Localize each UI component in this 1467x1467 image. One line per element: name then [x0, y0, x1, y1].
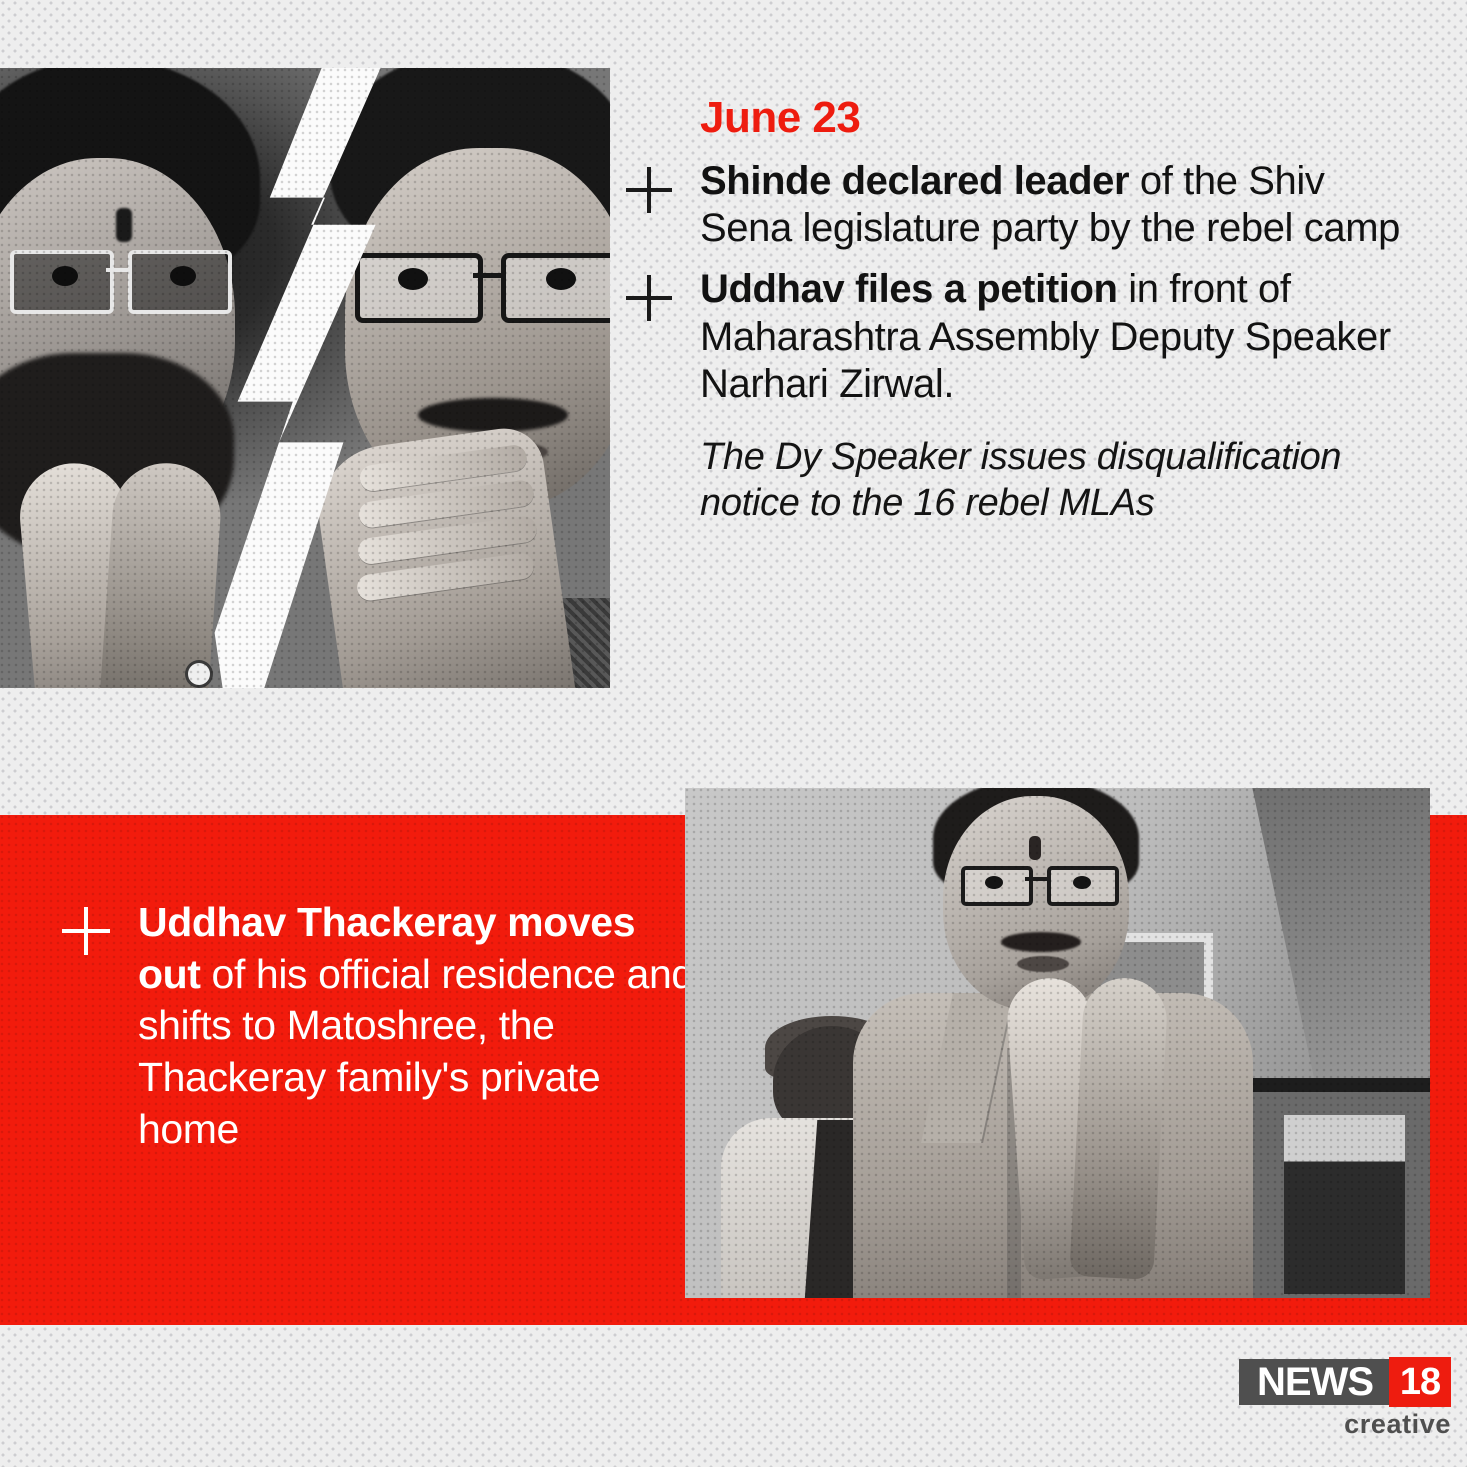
timeline-bullet-1-bold: Shinde declared leader: [700, 159, 1129, 203]
logo-news-word: NEWS: [1239, 1359, 1391, 1405]
plus-icon: [626, 275, 672, 321]
right-person-eye-right: [546, 268, 576, 290]
main-person-eye-left: [985, 876, 1003, 889]
main-person-moustache: [1001, 932, 1081, 952]
wall-frame-right: [1230, 1078, 1430, 1298]
infographic-canvas: June 23 Shinde declared leader of the Sh…: [0, 0, 1467, 1467]
left-person-eye-left: [52, 266, 78, 286]
plus-icon: [62, 907, 110, 955]
date-heading: June 23: [700, 96, 1410, 140]
logo-wordmark-row: NEWS 18: [1239, 1357, 1453, 1407]
red-panel-text: Uddhav Thackeray moves out of his offici…: [62, 897, 698, 1155]
right-person-eye-left: [398, 268, 428, 290]
bottom-photo: [685, 788, 1430, 1298]
timeline-bullet-2: Uddhav files a petition in front of Maha…: [620, 266, 1410, 408]
timeline-bullet-2-bold: Uddhav files a petition: [700, 267, 1118, 311]
left-person-glasses: [10, 250, 245, 308]
red-panel-rest: of his official residence and shifts to …: [138, 951, 694, 1152]
right-person-hand: [310, 423, 580, 688]
plus-icon: [626, 167, 672, 213]
left-person-folded-hands: [28, 463, 243, 688]
timeline-bullet-1: Shinde declared leader of the Shiv Sena …: [620, 158, 1410, 252]
news18-creative-logo: NEWS 18 creative: [1239, 1357, 1453, 1443]
main-person-eye-right: [1073, 876, 1091, 889]
main-person-tilak: [1029, 836, 1041, 860]
right-person-moustache: [418, 398, 568, 432]
left-person-eye-right: [170, 266, 196, 286]
timeline-text-column: June 23 Shinde declared leader of the Sh…: [620, 96, 1410, 527]
left-person-tilak: [116, 208, 132, 242]
timeline-note: The Dy Speaker issues disqualification n…: [700, 434, 1410, 527]
top-split-photo: [0, 68, 610, 688]
logo-tagline: creative: [1344, 1409, 1451, 1440]
main-person-mouth: [1017, 956, 1069, 972]
left-person-ring: [188, 663, 210, 685]
logo-18-badge: 18: [1389, 1357, 1451, 1407]
main-person-folded-hands: [1015, 978, 1185, 1288]
